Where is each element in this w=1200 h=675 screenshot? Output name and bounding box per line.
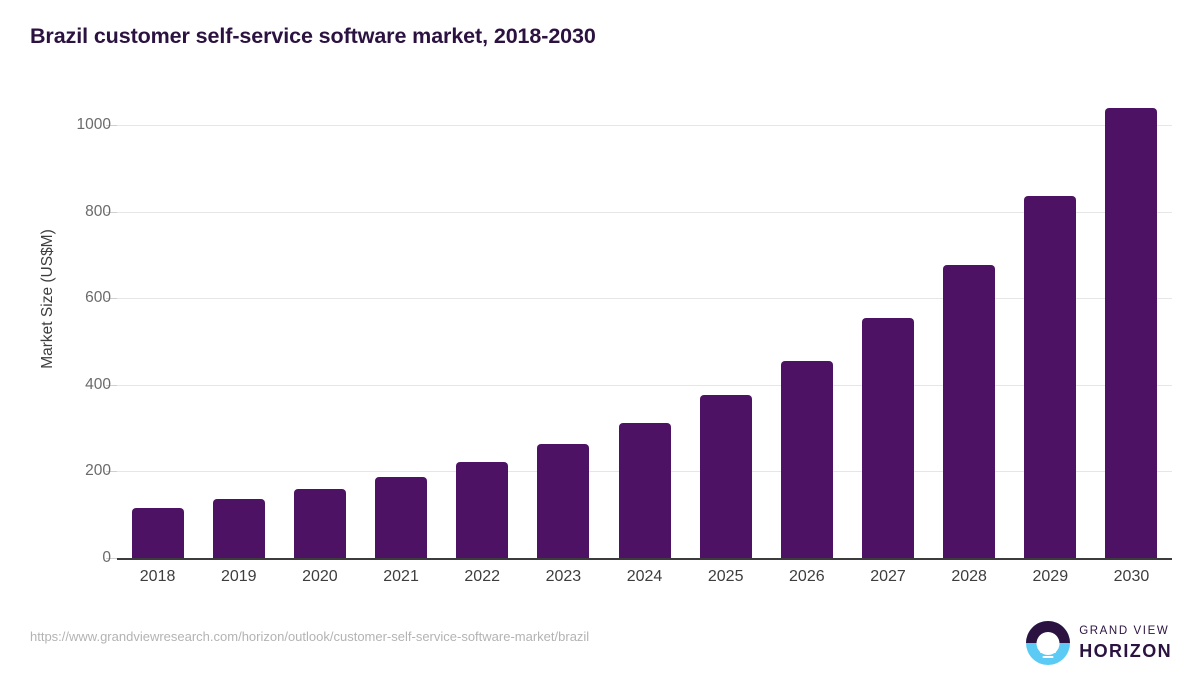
x-label-slot: 2024 (604, 0, 685, 675)
x-tick-label: 2025 (708, 568, 744, 586)
horizon-sun-icon (1026, 621, 1070, 665)
x-tick-label: 2023 (546, 568, 582, 586)
y-tick-label: 1000 (41, 116, 111, 134)
source-url[interactable]: https://www.grandviewresearch.com/horizo… (30, 629, 589, 644)
x-label-slot: 2020 (279, 0, 360, 675)
x-tick-label: 2020 (302, 568, 338, 586)
x-label-slot: 2023 (523, 0, 604, 675)
x-label-slot: 2029 (1010, 0, 1091, 675)
x-label-slot: 2028 (929, 0, 1010, 675)
x-tick-label: 2030 (1114, 568, 1150, 586)
y-tick-label: 800 (41, 203, 111, 221)
x-label-slot: 2026 (766, 0, 847, 675)
logo-line-3 (1043, 656, 1054, 658)
logo-wordmark: GRAND VIEW HORIZON (1079, 626, 1172, 660)
x-tick-label: 2019 (221, 568, 257, 586)
x-label-slot: 2019 (198, 0, 279, 675)
y-tick-label: 600 (41, 289, 111, 307)
y-tick-label: 200 (41, 462, 111, 480)
x-label-slot: 2022 (442, 0, 523, 675)
chart-plot-area: Market Size (US$M) 02004006008001000 201… (0, 0, 1200, 675)
logo-line-grand-view: GRAND VIEW (1079, 626, 1172, 638)
x-label-slot: 2027 (847, 0, 928, 675)
x-tick-label: 2027 (870, 568, 906, 586)
x-label-slot: 2018 (117, 0, 198, 675)
x-tick-label: 2028 (951, 568, 987, 586)
x-tick-label: 2026 (789, 568, 825, 586)
x-tick-label: 2018 (140, 568, 176, 586)
x-label-slot: 2021 (360, 0, 441, 675)
x-tick-label: 2029 (1033, 568, 1069, 586)
x-tick-label: 2022 (464, 568, 500, 586)
x-tick-label: 2021 (383, 568, 419, 586)
logo-line-horizon: HORIZON (1079, 642, 1172, 660)
x-axis-ticks: 2018201920202021202220232024202520262027… (117, 0, 1172, 675)
grand-view-horizon-logo: GRAND VIEW HORIZON (1026, 620, 1172, 666)
chart-page: Brazil customer self-service software ma… (0, 0, 1200, 675)
y-tick-label: 400 (41, 376, 111, 394)
x-tick-label: 2024 (627, 568, 663, 586)
x-label-slot: 2025 (685, 0, 766, 675)
y-tick-label: 0 (41, 549, 111, 567)
x-label-slot: 2030 (1091, 0, 1172, 675)
